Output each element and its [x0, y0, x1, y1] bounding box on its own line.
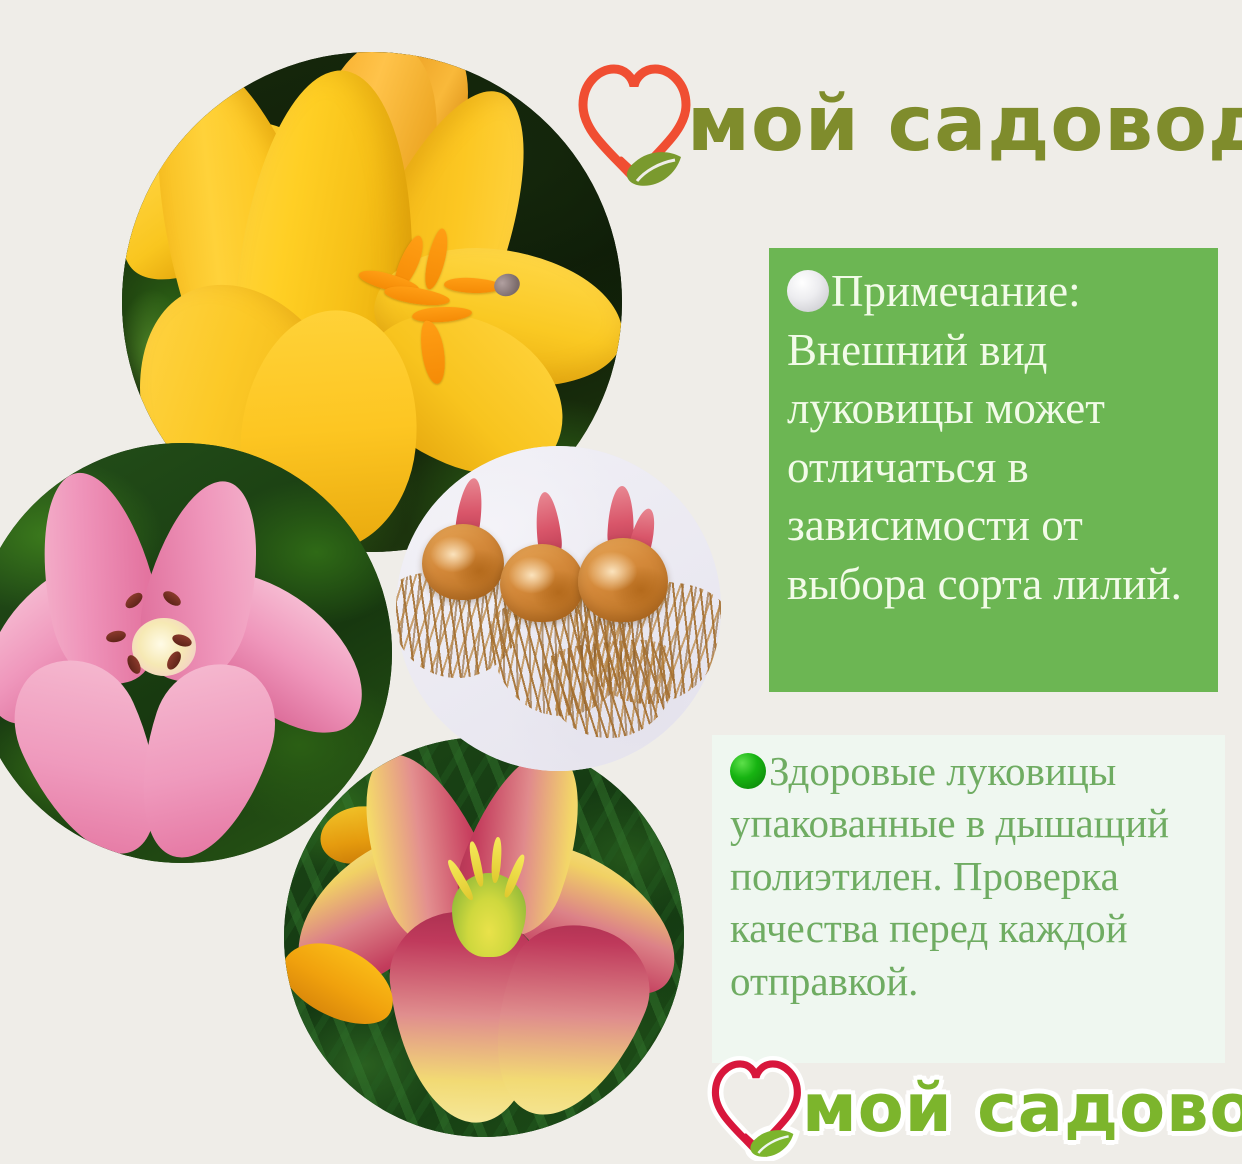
brand-logo-bottom: мой садовод [702, 1052, 1232, 1164]
lily-bulbs-photo [396, 446, 721, 771]
note-callout-box: Примечание: Внешний вид луковицы может о… [769, 248, 1218, 692]
logo-mark-top [575, 59, 693, 191]
brand-logo-top: мой садовод [575, 52, 1225, 197]
healthy-bulbs-callout-box: Здоровые луковицы упакованные в дышащий … [712, 735, 1225, 1063]
logo-mark-bottom [702, 1056, 810, 1161]
gray-circle-bullet-icon [787, 270, 829, 312]
lily-bulb [500, 544, 584, 622]
note-text-block: Примечание: Внешний вид луковицы может о… [787, 262, 1202, 613]
brand-name-bottom: мой садовод [802, 1075, 1242, 1142]
product-infographic: мой садовод Примечание: Внешний вид луко… [0, 0, 1242, 1164]
red-yellow-lily-photo [284, 737, 684, 1137]
brand-name-top: мой садовод [687, 86, 1242, 163]
lily-bulb [578, 538, 668, 622]
note-text: Примечание: Внешний вид луковицы может о… [787, 266, 1182, 609]
green-circle-bullet-icon [730, 753, 766, 789]
leaf-icon [627, 152, 681, 186]
healthy-text-block: Здоровые луковицы упакованные в дышащий … [730, 745, 1213, 1007]
healthy-text: Здоровые луковицы упакованные в дышащий … [730, 748, 1169, 1004]
lily-center [132, 618, 196, 676]
lily-bulb [422, 524, 504, 600]
